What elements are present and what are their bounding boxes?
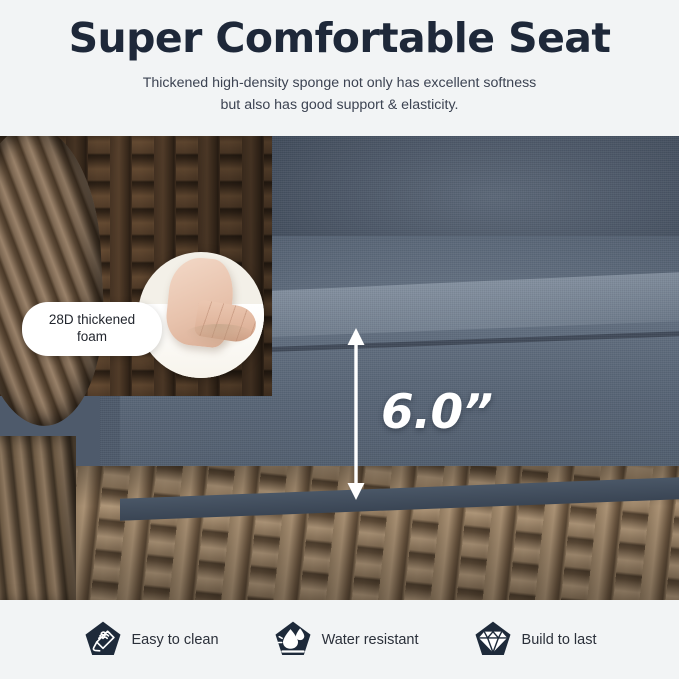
foam-callout-label: 28D thickened foam <box>22 302 162 356</box>
double-headed-vertical-arrow-icon <box>341 328 371 500</box>
foam-compression-dimple <box>182 324 256 350</box>
build-to-last-icon <box>473 620 513 660</box>
feature-label: Easy to clean <box>132 632 219 648</box>
product-photo: 28D thickened foam 6.0” <box>0 136 679 600</box>
product-feature-banner: Super Comfortable Seat Thickened high-de… <box>0 0 679 679</box>
feature-easy-to-clean[interactable]: Easy to clean <box>83 620 219 660</box>
callout-line-2: foam <box>34 328 150 345</box>
subtitle-line-1: Thickened high-density sponge not only h… <box>100 72 580 94</box>
feature-water-resistant[interactable]: Water resistant <box>273 620 419 660</box>
easy-to-clean-icon <box>83 620 123 660</box>
callout-line-1: 28D thickened <box>34 311 150 328</box>
feature-build-to-last[interactable]: Build to last <box>473 620 597 660</box>
page-subtitle: Thickened high-density sponge not only h… <box>100 72 580 116</box>
feature-label: Build to last <box>522 632 597 648</box>
dimension-value: 6.0” <box>381 389 493 436</box>
water-resistant-icon <box>273 620 313 660</box>
feature-label: Water resistant <box>322 632 419 648</box>
wicker-corner-post <box>0 436 76 600</box>
subtitle-line-2: but also has good support & elasticity. <box>100 94 580 116</box>
page-title: Super Comfortable Seat <box>0 14 679 62</box>
header-section: Super Comfortable Seat Thickened high-de… <box>0 0 679 136</box>
feature-bar: Easy to clean Water resistant <box>0 600 679 679</box>
